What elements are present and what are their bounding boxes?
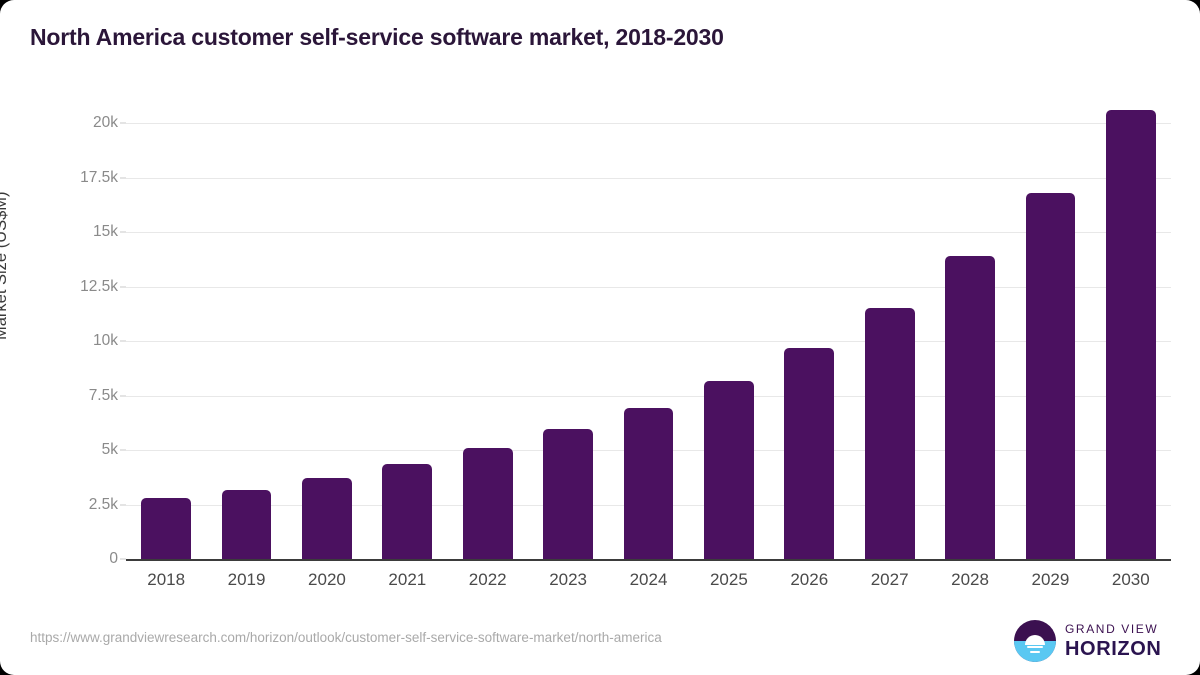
logo-ray-1 xyxy=(1027,646,1043,649)
gridline xyxy=(126,232,1171,233)
x-tick-label: 2018 xyxy=(147,570,185,590)
logo-ray-2 xyxy=(1030,651,1040,654)
y-axis-label: Market Size (US$M) xyxy=(0,191,11,340)
x-tick-label: 2028 xyxy=(951,570,989,590)
x-tick-label: 2022 xyxy=(469,570,507,590)
logo-line-2: HORIZON xyxy=(1065,639,1161,659)
horizon-sun-icon xyxy=(1014,620,1056,662)
bar-chart: Market Size (US$M) 02.5k5k7.5k10k12.5k15… xyxy=(0,0,1200,675)
chart-card: North America customer self-service soft… xyxy=(0,0,1200,675)
bar[interactable] xyxy=(865,308,915,559)
logo-line-1: GRAND VIEW xyxy=(1065,623,1161,635)
x-axis-line xyxy=(126,559,1171,561)
logo-sun-shape xyxy=(1025,635,1045,645)
y-tick-label: 15k xyxy=(93,223,118,241)
bar[interactable] xyxy=(1106,110,1156,559)
gridline xyxy=(126,123,1171,124)
x-tick-label: 2030 xyxy=(1112,570,1150,590)
y-tick-label: 12.5k xyxy=(80,278,118,296)
bar[interactable] xyxy=(222,490,272,559)
y-tick-label: 2.5k xyxy=(89,496,118,514)
bar[interactable] xyxy=(784,348,834,559)
gridline xyxy=(126,287,1171,288)
bar[interactable] xyxy=(704,381,754,559)
x-tick-label: 2019 xyxy=(228,570,266,590)
gridline xyxy=(126,341,1171,342)
x-tick-label: 2020 xyxy=(308,570,346,590)
bar[interactable] xyxy=(945,256,995,559)
logo-wordmark: GRAND VIEW HORIZON xyxy=(1065,623,1161,659)
source-url[interactable]: https://www.grandviewresearch.com/horizo… xyxy=(30,630,662,645)
bar[interactable] xyxy=(543,429,593,559)
bar[interactable] xyxy=(1026,193,1076,559)
x-tick-label: 2026 xyxy=(790,570,828,590)
bar[interactable] xyxy=(141,498,191,559)
y-tick-label: 7.5k xyxy=(89,387,118,405)
x-tick-label: 2027 xyxy=(871,570,909,590)
grand-view-horizon-logo[interactable]: GRAND VIEW HORIZON xyxy=(1014,620,1161,662)
y-tick-label: 10k xyxy=(93,332,118,350)
gridline xyxy=(126,396,1171,397)
gridline xyxy=(126,178,1171,179)
x-tick-label: 2024 xyxy=(630,570,668,590)
y-tick-label: 5k xyxy=(102,441,118,459)
x-tick-label: 2029 xyxy=(1032,570,1070,590)
plot-area xyxy=(126,123,1171,559)
y-tick-label: 0 xyxy=(109,550,118,568)
x-tick-label: 2021 xyxy=(388,570,426,590)
y-tick-label: 20k xyxy=(93,114,118,132)
x-tick-label: 2023 xyxy=(549,570,587,590)
y-tick-label: 17.5k xyxy=(80,169,118,187)
bar[interactable] xyxy=(624,408,674,560)
bar[interactable] xyxy=(463,448,513,559)
bar[interactable] xyxy=(302,478,352,559)
x-tick-label: 2025 xyxy=(710,570,748,590)
bar[interactable] xyxy=(382,464,432,559)
